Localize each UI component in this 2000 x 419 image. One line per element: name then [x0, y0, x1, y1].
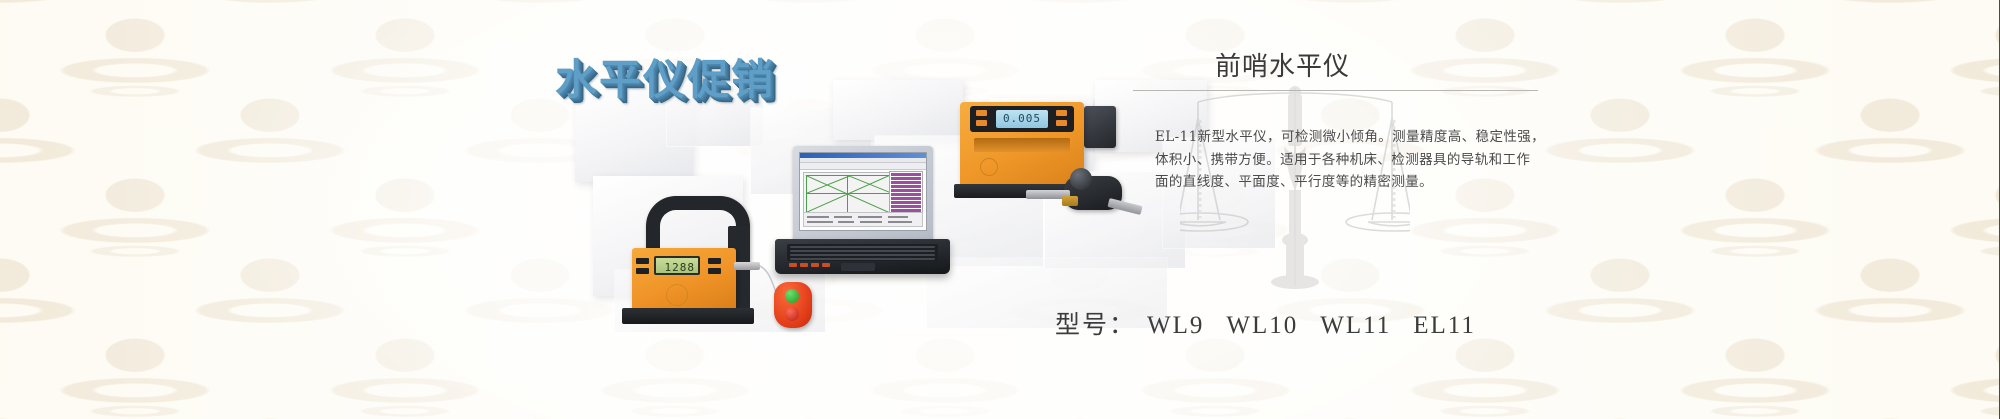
model-label: 型号： — [1055, 312, 1136, 339]
model-wl10: WL10 — [1226, 312, 1298, 339]
product-name-heading: 前哨水平仪 — [1215, 46, 1350, 83]
heading-divider — [1133, 90, 1538, 91]
model-wl11: WL11 — [1320, 312, 1391, 339]
laptop-touchpad — [841, 263, 875, 271]
description-line: EL-11新型水平仪，可检测微小倾角。测量精度高、稳定性强， — [1155, 126, 1547, 149]
laptop-screen — [799, 152, 927, 231]
control-panel: 0.005 — [970, 106, 1074, 132]
model-list: 型号：WL9WL10WL11EL11 — [1055, 305, 1487, 341]
gauge-stem — [1107, 198, 1142, 215]
software-grid-chart — [803, 172, 891, 216]
model-el11: EL11 — [1413, 312, 1476, 339]
lcd-display: 0.005 — [996, 110, 1048, 128]
grid-lines — [804, 173, 890, 215]
keypad-button — [976, 110, 987, 116]
brand-seal-icon — [980, 158, 998, 176]
dial-knob-icon — [1070, 168, 1092, 190]
description-line: 面的直线度、平面度、平行度等的精密测量。 — [1155, 171, 1547, 194]
level-instrument-b: 0.005 — [952, 88, 1142, 228]
software-toolbar — [800, 163, 926, 170]
description-line: 体积小、携带方便。适用于各种机床、检测器具的导轨和工作 — [1155, 149, 1547, 172]
red-button-icon — [785, 307, 799, 321]
product-banner: 水平仪促销 前哨水平仪 EL-11新型水平仪，可检测微小倾角。测量精度高、稳定性… — [0, 0, 2000, 419]
brass-tip — [1062, 196, 1078, 206]
attached-gauge — [1064, 176, 1122, 210]
instrument-body: 0.005 — [960, 102, 1084, 190]
green-button-icon — [785, 289, 799, 303]
handheld-remote[interactable] — [774, 282, 812, 328]
mounting-block — [1084, 106, 1116, 148]
software-readout-panel — [803, 212, 923, 227]
laptop-lid — [793, 146, 933, 241]
handle-slot — [974, 138, 1070, 152]
model-wl9: WL9 — [1147, 312, 1204, 339]
keypad-button — [1056, 120, 1067, 126]
keypad-button — [1056, 110, 1067, 116]
level-instrument-a: 1288 — [622, 196, 812, 328]
page-title: 水平仪促销 — [555, 46, 775, 107]
keypad-button — [976, 120, 987, 126]
product-description: EL-11新型水平仪，可检测微小倾角。测量精度高、稳定性强， 体积小、携带方便。… — [1155, 126, 1547, 194]
